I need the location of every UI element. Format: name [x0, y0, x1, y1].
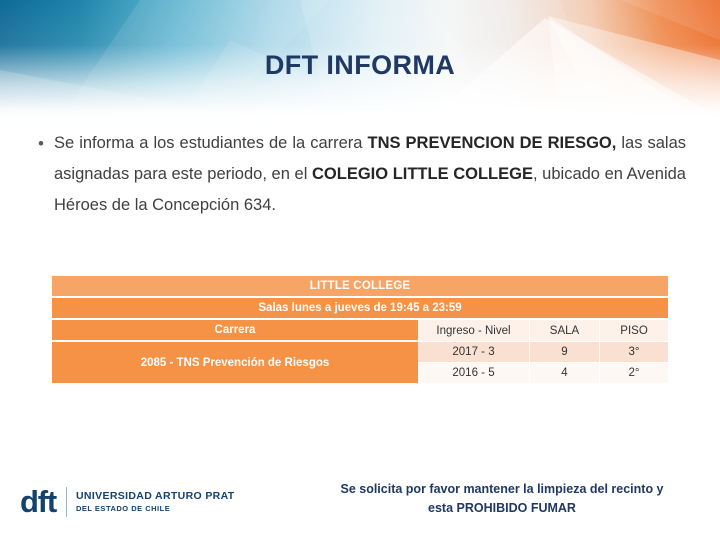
logo-university-subtitle: DEL ESTADO DE CHILE	[76, 503, 235, 514]
logo-text-block: UNIVERSIDAD ARTURO PRAT DEL ESTADO DE CH…	[76, 490, 235, 514]
bullet-paragraph-row: • Se informa a los estudiantes de la car…	[38, 128, 686, 221]
table-row: 2085 - TNS Prevención de Riesgos 2017 - …	[52, 342, 668, 363]
table-row-title: LITTLE COLLEGE	[52, 276, 668, 298]
cell-sala: 9	[530, 342, 600, 363]
table-row-headers: Carrera Ingreso - Nivel SALA PISO	[52, 320, 668, 342]
bullet-icon: •	[38, 128, 54, 159]
cell-sala: 4	[530, 363, 600, 383]
page-title: DFT INFORMA	[0, 50, 720, 81]
logo-divider	[66, 487, 67, 517]
column-header-piso: PISO	[600, 320, 668, 342]
dft-logo-mark: dft	[20, 486, 56, 517]
cell-piso: 2°	[600, 363, 668, 383]
table-title-cell: LITTLE COLLEGE	[52, 276, 668, 298]
table-subtitle-cell: Salas lunes a jueves de 19:45 a 23:59	[52, 298, 668, 320]
announcement-body: • Se informa a los estudiantes de la car…	[38, 128, 686, 221]
table-row-subtitle: Salas lunes a jueves de 19:45 a 23:59	[52, 298, 668, 320]
footer-notice-line-2: esta PROHIBIDO FUMAR	[300, 499, 704, 518]
cell-ingreso-nivel: 2016 - 5	[418, 363, 530, 383]
footer-notice-line-1: Se solicita por favor mantener la limpie…	[300, 480, 704, 499]
announcement-text: Se informa a los estudiantes de la carre…	[54, 128, 686, 221]
text-segment-1: Se informa a los estudiantes de la carre…	[54, 134, 368, 152]
schedule-table: LITTLE COLLEGE Salas lunes a jueves de 1…	[52, 276, 668, 383]
column-header-ingreso-nivel: Ingreso - Nivel	[418, 320, 530, 342]
logo-university-name: UNIVERSIDAD ARTURO PRAT	[76, 490, 235, 503]
slide-header-banner: DFT INFORMA	[0, 0, 720, 118]
column-header-carrera: Carrera	[52, 320, 418, 342]
cell-piso: 3°	[600, 342, 668, 363]
cell-carrera-value: 2085 - TNS Prevención de Riesgos	[52, 342, 418, 383]
university-logo: dft UNIVERSIDAD ARTURO PRAT DEL ESTADO D…	[20, 486, 235, 517]
footer-notice: Se solicita por favor mantener la limpie…	[300, 480, 704, 518]
column-header-sala: SALA	[530, 320, 600, 342]
text-bold-career: TNS PREVENCION DE RIESGO,	[368, 134, 617, 152]
cell-ingreso-nivel: 2017 - 3	[418, 342, 530, 363]
text-bold-school: COLEGIO LITTLE COLLEGE	[312, 165, 533, 183]
